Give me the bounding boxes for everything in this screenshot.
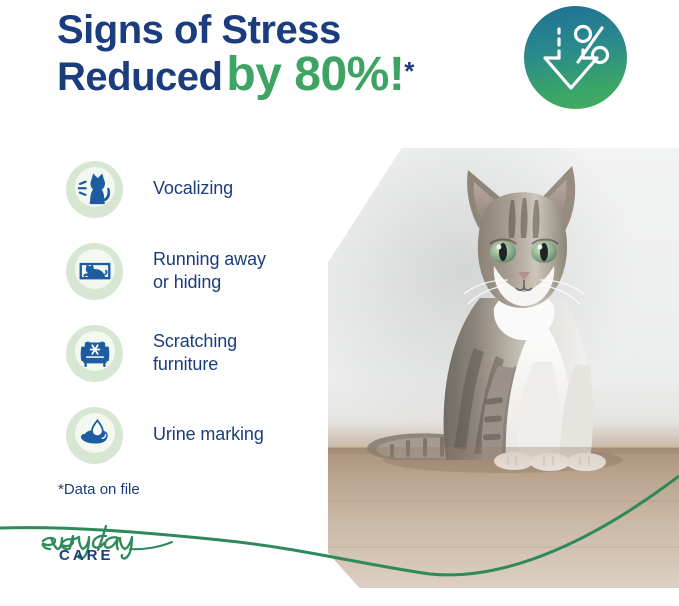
list-item: Vocalizing: [66, 148, 316, 230]
list-item: Urine marking: [66, 394, 316, 476]
symptom-label-line-1: Running away: [153, 249, 266, 269]
cat-photo-image: [328, 148, 679, 588]
symptom-label: Vocalizing: [153, 177, 233, 200]
symptom-label: Running away or hiding: [153, 248, 266, 294]
page-title: Signs of Stress Reduced by 80%!*: [57, 10, 527, 100]
symptom-label-line-1: Scratching: [153, 331, 237, 351]
scratched-armchair-icon: [75, 333, 115, 373]
percent-down-arrow-icon: [524, 6, 627, 109]
symptom-icon-wrapper: [66, 243, 123, 300]
footnote-data-on-file: *Data on file: [58, 481, 140, 498]
list-item: Scratching furniture: [66, 312, 316, 394]
symptom-icon-wrapper: [66, 407, 123, 464]
urine-droplet-icon: [75, 415, 115, 455]
logo-care-text: CARE: [59, 547, 114, 564]
symptom-label-line-2: or hiding: [153, 272, 221, 292]
headline-text-primary: Signs of Stress: [57, 8, 341, 52]
headline-text-secondary: Reduced: [57, 55, 222, 99]
list-item: Running away or hiding: [66, 230, 316, 312]
symptom-label: Urine marking: [153, 423, 264, 446]
percent-decrease-badge: [524, 6, 627, 109]
promo-graphic: Signs of Stress Reduced by 80%!*: [0, 0, 679, 606]
headline-line-2: Reduced by 80%!*: [57, 51, 527, 100]
symptom-icon-wrapper: [66, 325, 123, 382]
symptom-list: Vocalizing: [66, 148, 316, 476]
cat-meowing-icon: [75, 169, 115, 209]
headline-asterisk: *: [404, 56, 414, 86]
symptom-label-line-2: furniture: [153, 354, 218, 374]
photo-floor-gloss: [328, 447, 679, 588]
headline-line-1: Signs of Stress: [57, 10, 527, 51]
brand-logo: CARE: [34, 514, 204, 570]
cat-hiding-in-box-icon: [75, 251, 115, 291]
symptom-label: Scratching furniture: [153, 330, 237, 376]
symptom-icon-wrapper: [66, 161, 123, 218]
cat-photo: [328, 148, 679, 588]
headline-highlight: by 80%!: [226, 48, 404, 101]
